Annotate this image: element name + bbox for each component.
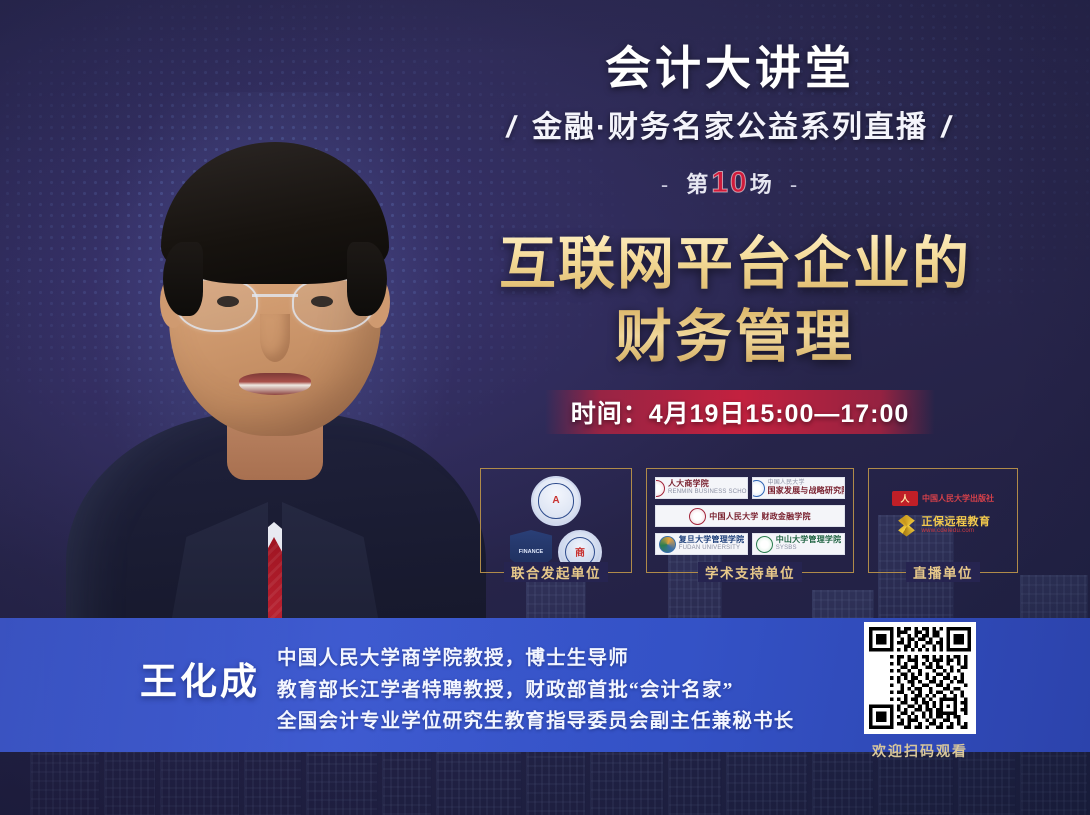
ruc-press-mark-icon: 人 [892,491,918,506]
logo-group-label-broadcast: 直播单位 [906,562,980,582]
speaker-name: 王化成 [140,651,260,705]
speaker-credential-line-3: 全国会计专业学位研究生教育指导委员会副主任兼秘书长 [277,706,857,738]
cdeledu-url: www.cdeledu.com [922,528,991,535]
episode-suffix: 场 [750,172,774,197]
fudan-plaque-subtext: FUDAN UNIVERSITY [679,545,745,552]
qr-code-image[interactable] [864,622,976,734]
speaker-credential-line-1: 中国人民大学商学院教授，博士生导师 [277,643,857,675]
shield-sub-label: FINANCE [519,549,543,556]
logo-group-label-cosponsors: 联合发起单位 [504,562,608,582]
episode-badge: - 第10场 - [470,166,990,200]
qr-code-svg [869,627,971,729]
event-time-banner: 时间：4月19日15:00—17:00 [545,390,935,434]
qr-code-caption: 欢迎扫码观看 [864,741,976,761]
program-title: 会计大讲堂 [470,44,990,92]
national-academy-plaque: 中国人民大学 国家发展与战略研究院 [752,477,845,499]
rmbs-seal-icon [655,480,665,497]
ruc-finance-school-text: 财政金融学院 [762,511,811,522]
rmbs-plaque-text: 人大商学院 [668,480,748,489]
subtitle-slash-left: / [500,111,526,145]
qr-code-block[interactable]: 欢迎扫码观看 [864,622,976,761]
portrait-mouth [239,373,311,395]
episode-number: 10 [710,166,749,199]
lecture-title-line1: 互联网平台企业的 [455,228,1015,301]
acca-circular-seal-icon: A [531,476,581,526]
lecture-title-line2: 财务管理 [455,301,1015,374]
fudan-seal-icon [659,536,676,553]
logo-group-cosponsors: A FINANCE 商 联合发起单位 [480,468,632,573]
rmbs-plaque: 人大商学院 RENMIN BUSINESS SCHOOL [655,477,748,499]
portrait-nose [260,314,290,362]
logo-group-broadcast: 人 中国人民大学出版社 正保远程教育 www.cdeledu.com 直播单位 [868,468,1018,573]
fudan-plaque-text: 复旦大学管理学院 [679,536,745,545]
program-subtitle: / 金融·财务名家公益系列直播 / [470,102,990,146]
rmbs-plaque-subtext: RENMIN BUSINESS SCHOOL [668,489,748,496]
sysbs-plaque-text: 中山大学管理学院 [776,536,842,545]
header-block: 会计大讲堂 / 金融·财务名家公益系列直播 / - 第10场 - [470,44,990,200]
cdeledu-mark-icon [896,515,918,537]
cdeledu-logo: 正保远程教育 www.cdeledu.com [877,515,1009,537]
national-academy-seal-icon [752,480,765,497]
speaker-credential-line-2: 教育部长江学者特聘教授，财政部首批“会计名家” [277,675,857,707]
subtitle-text: 金融·财务名家公益系列直播 [532,111,928,144]
episode-dash-right: - [782,172,807,197]
episode-dash-left: - [653,172,678,197]
ruc-finance-plaque: 中国人民大学 财政金融学院 [655,505,845,527]
ruc-seal-icon [689,508,706,525]
lecture-title: 互联网平台企业的 财务管理 [455,228,1015,374]
cdeledu-text: 正保远程教育 [922,516,991,528]
acca-seal-inner: A [538,483,573,518]
portrait-glasses-bridge [252,294,298,297]
ruc-plaque-text: 中国人民大学 [709,511,758,522]
national-academy-text: 国家发展与战略研究院 [768,487,846,496]
episode-prefix: 第 [686,172,710,197]
sponsor-logo-groups: A FINANCE 商 联合发起单位 人大商学院 [480,463,1020,573]
speaker-credentials: 中国人民大学商学院教授，博士生导师 教育部长江学者特聘教授，财政部首批“会计名家… [277,643,857,738]
event-time-text: 时间：4月19日15:00—17:00 [571,394,910,430]
subtitle-slash-right: / [935,111,961,145]
sysbs-plaque: 中山大学管理学院 SYSBS [752,533,845,555]
sysbs-seal-icon [756,536,773,553]
logo-group-academic-support: 人大商学院 RENMIN BUSINESS SCHOOL 中国人民大学 国家发展… [646,468,854,573]
sysbs-plaque-subtext: SYSBS [776,545,842,552]
promotional-poster: 会计大讲堂 / 金融·财务名家公益系列直播 / - 第10场 - 互联网平台企业… [0,0,1090,815]
fudan-management-plaque: 复旦大学管理学院 FUDAN UNIVERSITY [655,533,748,555]
ruc-press-logo: 人 中国人民大学出版社 [877,491,1009,506]
logo-group-label-academic-support: 学术支持单位 [698,562,802,582]
ruc-press-text: 中国人民大学出版社 [922,493,994,504]
